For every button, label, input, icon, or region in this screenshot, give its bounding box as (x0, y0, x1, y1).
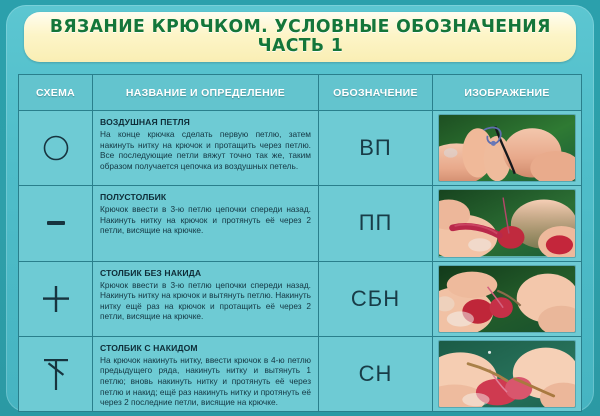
stitch-description: На конце крючка сделать первую петлю, за… (100, 129, 311, 171)
cell-scheme (19, 111, 93, 185)
cell-scheme (19, 186, 93, 260)
stitch-description: Крючок ввести в 3-ю петлю цепочки сперед… (100, 204, 311, 236)
cell-abbreviation: ПП (319, 186, 433, 260)
stitch-description: Крючок ввести в 3-ю петлю цепочки сперед… (100, 280, 311, 322)
page-title-line-2: ЧАСТЬ 1 (257, 37, 343, 56)
cell-definition: СТОЛБИК БЕЗ НАКИДА Крючок ввести в 3-ю п… (93, 262, 319, 336)
single-crochet-plus-symbol (19, 262, 92, 336)
table-header-row: СХЕМА НАЗВАНИЕ И ОПРЕДЕЛЕНИЕ ОБОЗНАЧЕНИЕ… (19, 75, 581, 111)
table-row: СТОЛБИК БЕЗ НАКИДА Крючок ввести в 3-ю п… (19, 262, 581, 337)
table-row: ПОЛУСТОЛБИК Крючок ввести в 3-ю петлю це… (19, 186, 581, 261)
stitch-abbreviation: ВП (319, 111, 432, 185)
cell-definition: ПОЛУСТОЛБИК Крючок ввести в 3-ю петлю це… (93, 186, 319, 260)
poster-root: ВЯЗАНИЕ КРЮЧКОМ. УСЛОВНЫЕ ОБОЗНАЧЕНИЯ ЧА… (0, 0, 600, 416)
column-header-abbr-label: ОБОЗНАЧЕНИЕ (333, 87, 418, 99)
cell-photo (433, 111, 581, 185)
stitch-title: СТОЛБИК БЕЗ НАКИДА (100, 268, 311, 279)
stitch-title: СТОЛБИК С НАКИДОМ (100, 343, 311, 354)
poster-title-banner: ВЯЗАНИЕ КРЮЧКОМ. УСЛОВНЫЕ ОБОЗНАЧЕНИЯ ЧА… (24, 12, 576, 62)
stitch-abbreviation: ПП (319, 186, 432, 260)
cell-photo (433, 186, 581, 260)
stitch-title: ВОЗДУШНАЯ ПЕТЛЯ (100, 117, 311, 128)
page-title-line-1: ВЯЗАНИЕ КРЮЧКОМ. УСЛОВНЫЕ ОБОЗНАЧЕНИЯ (50, 18, 551, 37)
cell-abbreviation: ВП (319, 111, 433, 185)
stitch-abbreviation: СН (319, 337, 432, 411)
cell-abbreviation: СН (319, 337, 433, 411)
photo-chain-stitch (439, 115, 575, 181)
column-header-scheme-label: СХЕМА (36, 87, 75, 99)
column-header-name: НАЗВАНИЕ И ОПРЕДЕЛЕНИЕ (93, 75, 319, 110)
slip-stitch-dash-symbol (19, 186, 92, 260)
cell-photo (433, 337, 581, 411)
column-header-name-label: НАЗВАНИЕ И ОПРЕДЕЛЕНИЕ (126, 87, 285, 99)
photo-slip-stitch (439, 190, 575, 256)
column-header-abbr: ОБОЗНАЧЕНИЕ (319, 75, 433, 110)
column-header-image-label: ИЗОБРАЖЕНИЕ (464, 87, 549, 99)
cell-scheme (19, 262, 93, 336)
photo-double-crochet (439, 341, 575, 407)
photo-single-crochet (439, 266, 575, 332)
double-crochet-t-slash-symbol (19, 337, 92, 411)
stitch-abbreviation: СБН (319, 262, 432, 336)
table-row: ВОЗДУШНАЯ ПЕТЛЯ На конце крючка сделать … (19, 111, 581, 186)
cell-photo (433, 262, 581, 336)
stitch-description: На крючок накинуть нитку, ввести крючок … (100, 355, 311, 408)
cell-scheme (19, 337, 93, 411)
table-row: СТОЛБИК С НАКИДОМ На крючок накинуть нит… (19, 337, 581, 411)
cell-definition: СТОЛБИК С НАКИДОМ На крючок накинуть нит… (93, 337, 319, 411)
cell-definition: ВОЗДУШНАЯ ПЕТЛЯ На конце крючка сделать … (93, 111, 319, 185)
column-header-scheme: СХЕМА (19, 75, 93, 110)
chain-stitch-circle-symbol (19, 111, 92, 185)
stitch-title: ПОЛУСТОЛБИК (100, 192, 311, 203)
symbols-table: СХЕМА НАЗВАНИЕ И ОПРЕДЕЛЕНИЕ ОБОЗНАЧЕНИЕ… (18, 74, 582, 412)
cell-abbreviation: СБН (319, 262, 433, 336)
column-header-image: ИЗОБРАЖЕНИЕ (433, 75, 581, 110)
